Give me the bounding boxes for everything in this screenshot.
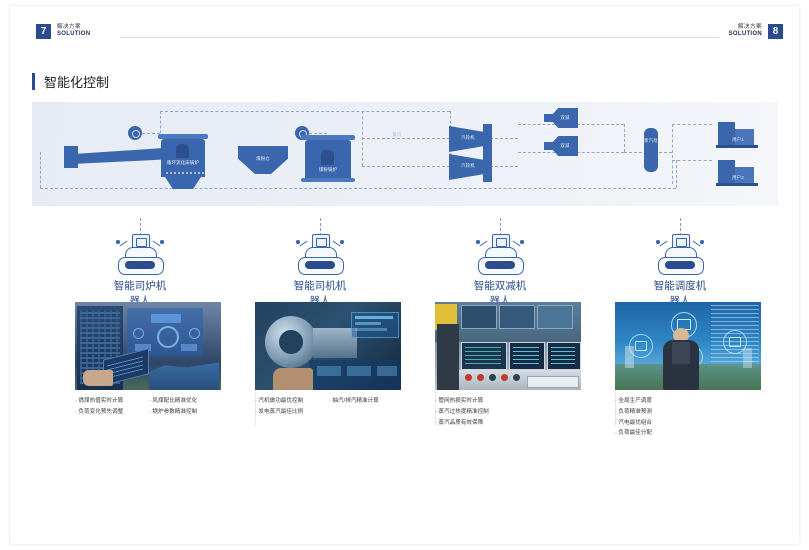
robot-icon-3	[474, 234, 526, 274]
robot-2-antenna-dot-right	[340, 240, 344, 244]
robot-4-antenna-left	[659, 241, 667, 247]
turbine-1-label: 汽轮机	[452, 135, 484, 141]
boiler1-dots	[166, 172, 204, 174]
card-turbine-operator: 汽机做功最优控制 抽汽/排汽精准计算 发电蒸汽最佳比例	[255, 302, 401, 418]
turbine-2-fins	[483, 152, 492, 182]
user1-tower	[718, 122, 735, 147]
turbine-1-fins	[483, 124, 492, 154]
bullet-item: 负荷精准预测	[615, 408, 761, 418]
robot-row: 智能司炉机器人 智能司机机器人	[32, 218, 778, 278]
boiler2-door	[321, 150, 334, 165]
flow-line-return-up	[40, 152, 41, 188]
user-plant-1-label: 用户1	[722, 137, 754, 143]
robot-4-antenna-dot-right	[700, 240, 704, 244]
robot-dual-reduction[interactable]: 智能双减机器人	[470, 218, 530, 274]
robot-1-visor	[125, 261, 155, 269]
header-left-group: 7 解决方案 SOLUTION	[36, 24, 90, 39]
robot-1-antenna-right	[152, 241, 160, 247]
coal-conveyor	[72, 148, 164, 164]
steam-flow-label: 蒸汽	[377, 132, 417, 138]
section-accent-bar	[32, 73, 35, 90]
slide-header: 7 解决方案 SOLUTION 解决方案 SOLUTION 8	[10, 24, 799, 50]
flow-line-return-right	[676, 160, 677, 188]
user-plant-2-label: 用户2	[722, 175, 754, 181]
steam-header-label: 蒸汽母管	[644, 138, 658, 143]
header-right-group: 解决方案 SOLUTION 8	[729, 24, 783, 39]
flow-line-user2	[672, 160, 712, 161]
flow-line-top	[160, 111, 450, 112]
bullets-dispatch: 全局生产调度 负荷精准预测 汽电最优组合 负荷最佳分配	[615, 397, 761, 439]
bullet-item: 发电蒸汽最佳比例	[255, 408, 321, 418]
user2-base	[716, 183, 758, 186]
photo-turbine-hmi	[255, 302, 401, 390]
header-left-text: 解决方案 SOLUTION	[57, 25, 90, 37]
robot-3-antenna-dot-right	[520, 240, 524, 244]
robot-4-antenna-dot-left	[656, 240, 660, 244]
boiler2-label: 煤粉锅炉	[305, 167, 351, 173]
sensor-link-2	[309, 133, 327, 134]
photo-power-plant-tablet	[75, 302, 221, 390]
robot-2-antenna-left	[299, 241, 307, 247]
turbine-2-label: 汽轮机	[452, 163, 484, 169]
robot-2-visor	[305, 261, 335, 269]
flow-line-return	[40, 188, 676, 189]
user2-tower	[718, 160, 735, 185]
header-right-number: 8	[768, 24, 783, 39]
bullet-item: 抽汽/排汽精准计算	[329, 397, 395, 407]
robot-boiler-operator[interactable]: 智能司炉机器人	[110, 218, 170, 274]
flow-line-steam-1	[362, 138, 450, 139]
robot-4-antenna-right	[692, 241, 700, 247]
boiler1-door	[176, 144, 189, 158]
bullets-dual-reduction: 管网热损实时计算 蒸汽过热度精准控制 蒸汽品质有效保障	[435, 397, 581, 428]
header-divider	[120, 37, 719, 38]
sensor-icon-boiler1	[128, 126, 142, 140]
user-plant-2: 用户2	[718, 156, 758, 186]
boiler2-base	[301, 178, 355, 182]
process-flow-diagram: 循环流化床锅炉 煤粉仓 煤粉锅炉 蒸汽 汽轮机 汽轮机 双减 双减 蒸汽母管	[32, 102, 778, 206]
header-right-text: 解决方案 SOLUTION	[729, 25, 762, 37]
bullet-item: 全局生产调度	[615, 397, 761, 407]
bullet-item: 蒸汽品质有效保障	[435, 419, 581, 429]
bullet-item: 汽电最优组合	[615, 419, 761, 429]
robot-3-antenna-right	[512, 241, 520, 247]
flow-line-header-in	[624, 124, 625, 152]
photo-engineer-overlay	[615, 302, 761, 390]
section-title: 智能化控制	[32, 72, 109, 91]
card-row: 燃煤热值实时计算 风煤配比精准优化 负荷变化预先调整 锅炉参数精准控制	[32, 302, 778, 447]
slide-canvas: 7 解决方案 SOLUTION 解决方案 SOLUTION 8 智能化控制	[10, 6, 799, 544]
bullet-item: 负荷变化预先调整	[75, 408, 141, 418]
robot-4-visor	[665, 261, 695, 269]
bullets-boiler-operator: 燃煤热值实时计算 风煤配比精准优化 负荷变化预先调整 锅炉参数精准控制	[75, 397, 221, 418]
flow-line-user1	[672, 124, 712, 125]
user1-base	[716, 145, 758, 148]
robot-3-visor	[485, 261, 515, 269]
photo-control-room	[435, 302, 581, 390]
card-dispatch: 全局生产调度 负荷精准预测 汽电最优组合 负荷最佳分配	[615, 302, 761, 439]
section-title-text: 智能化控制	[44, 72, 109, 91]
bullet-item: 管网热损实时计算	[435, 397, 581, 407]
bullet-item: 蒸汽过热度精准控制	[435, 408, 581, 418]
robot-turbine-operator[interactable]: 智能司机机器人	[290, 218, 350, 274]
robot-1-antenna-left	[119, 241, 127, 247]
boiler1-label: 循环流化床锅炉	[161, 160, 205, 166]
flow-line-steam-2	[362, 166, 450, 167]
coal-bunker-label: 煤粉仓	[238, 156, 288, 162]
bullet-item: 汽机做功最优控制	[255, 397, 321, 407]
slide-page: 7 解决方案 SOLUTION 解决方案 SOLUTION 8 智能化控制	[0, 0, 809, 550]
bullet-item: 燃煤热值实时计算	[75, 397, 141, 407]
robot-2-antenna-right	[332, 241, 340, 247]
header-left-en: SOLUTION	[57, 31, 90, 37]
robot-3-antenna-left	[479, 241, 487, 247]
robot-1-antenna-dot-right	[160, 240, 164, 244]
bullet-item: 锅炉参数精准控制	[149, 408, 215, 418]
robot-icon-4	[654, 234, 706, 274]
robot-dispatch[interactable]: 智能调度机器人	[650, 218, 710, 274]
flow-line-header-down	[672, 124, 673, 184]
card-boiler-operator: 燃煤热值实时计算 风煤配比精准优化 负荷变化预先调整 锅炉参数精准控制	[75, 302, 221, 418]
steam-header-pipe	[644, 128, 658, 172]
reducer-valve-1-label: 双减	[552, 115, 578, 121]
conveyor-base	[64, 146, 78, 168]
reducer-valve-2-label: 双减	[552, 143, 578, 149]
sensor-link-1	[142, 133, 160, 134]
robot-3-antenna-dot-left	[476, 240, 480, 244]
robot-2-antenna-dot-left	[296, 240, 300, 244]
bullet-item: 负荷最佳分配	[615, 429, 761, 439]
header-left-number: 7	[36, 24, 51, 39]
card-dual-reduction: 管网热损实时计算 蒸汽过热度精准控制 蒸汽品质有效保障	[435, 302, 581, 428]
robot-1-antenna-dot-left	[116, 240, 120, 244]
user-plant-1: 用户1	[718, 118, 758, 148]
bullet-item: 风煤配比精准优化	[149, 397, 215, 407]
robot-icon-2	[294, 234, 346, 274]
header-right-en: SOLUTION	[729, 31, 762, 37]
robot-icon-1	[114, 234, 166, 274]
bullets-turbine-operator: 汽机做功最优控制 抽汽/排汽精准计算 发电蒸汽最佳比例	[255, 397, 401, 418]
